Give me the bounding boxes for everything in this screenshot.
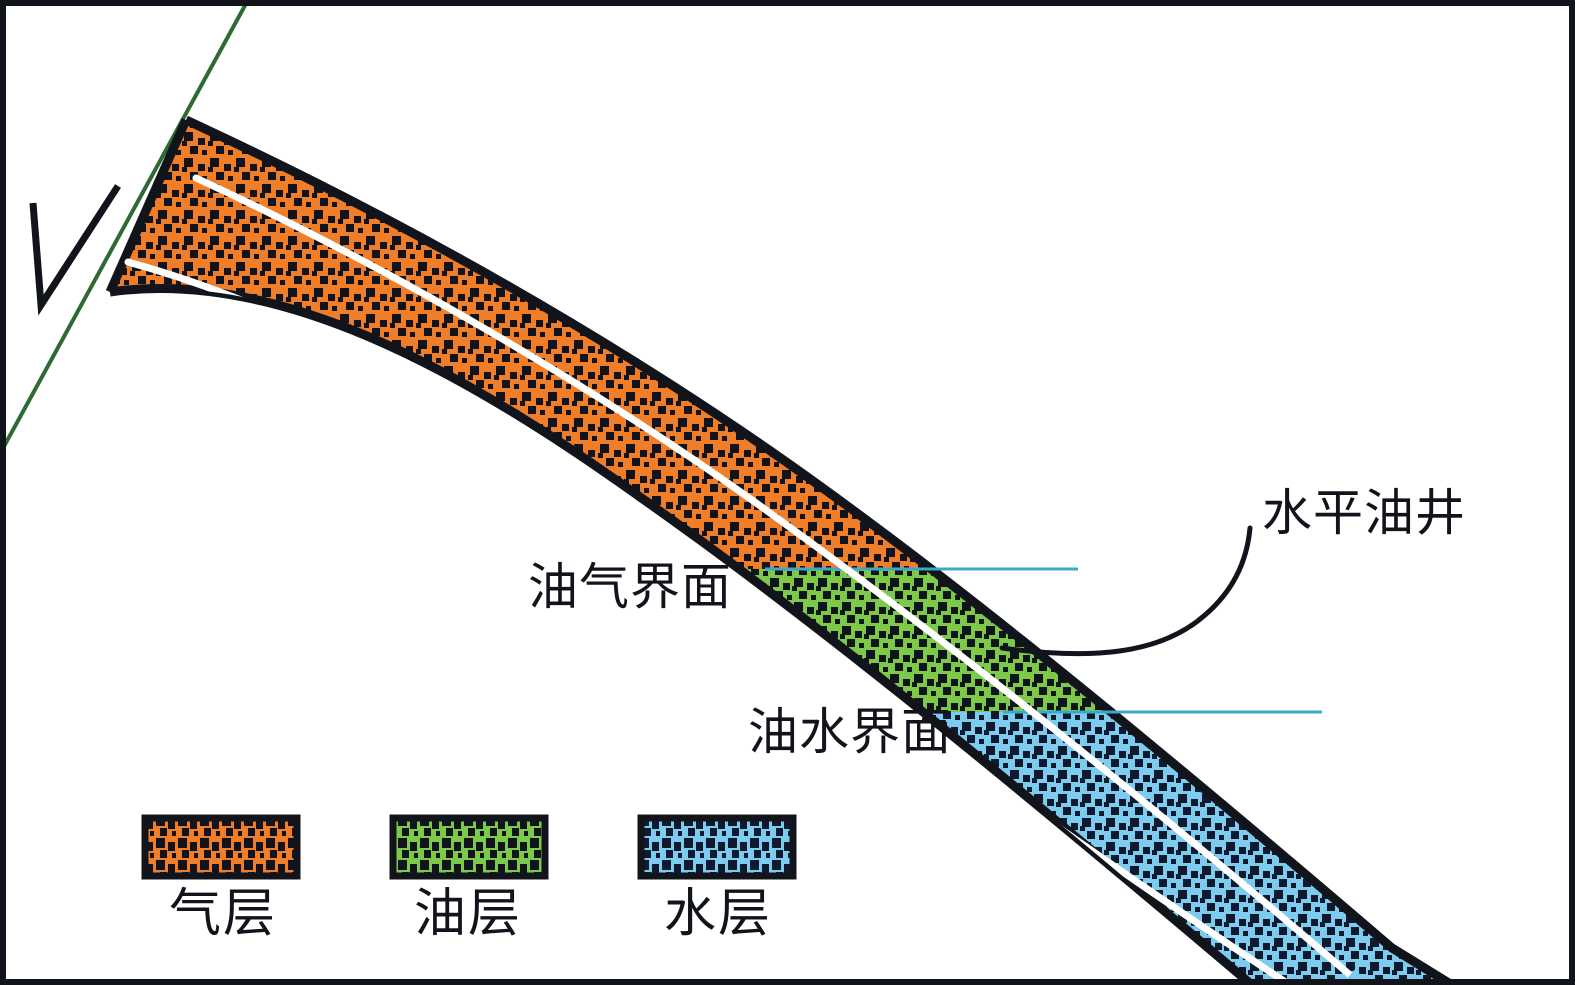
legend-label-gas: 气层 (169, 889, 277, 941)
legend-swatch-water (641, 818, 793, 876)
oil-water-interface-label: 油水界面 (748, 707, 952, 757)
figure-canvas: 油气界面 油水界面 水平油井 气层 油层 水层 (0, 0, 1575, 985)
legend (145, 818, 793, 876)
horizontal-well-label: 水平油井 (1262, 488, 1466, 538)
legend-swatch-oil (393, 818, 545, 876)
legend-label-water: 水层 (664, 889, 772, 941)
legend-swatch-gas (145, 818, 297, 876)
oil-gas-interface-label: 油气界面 (528, 562, 732, 612)
legend-label-oil: 油层 (414, 889, 522, 941)
